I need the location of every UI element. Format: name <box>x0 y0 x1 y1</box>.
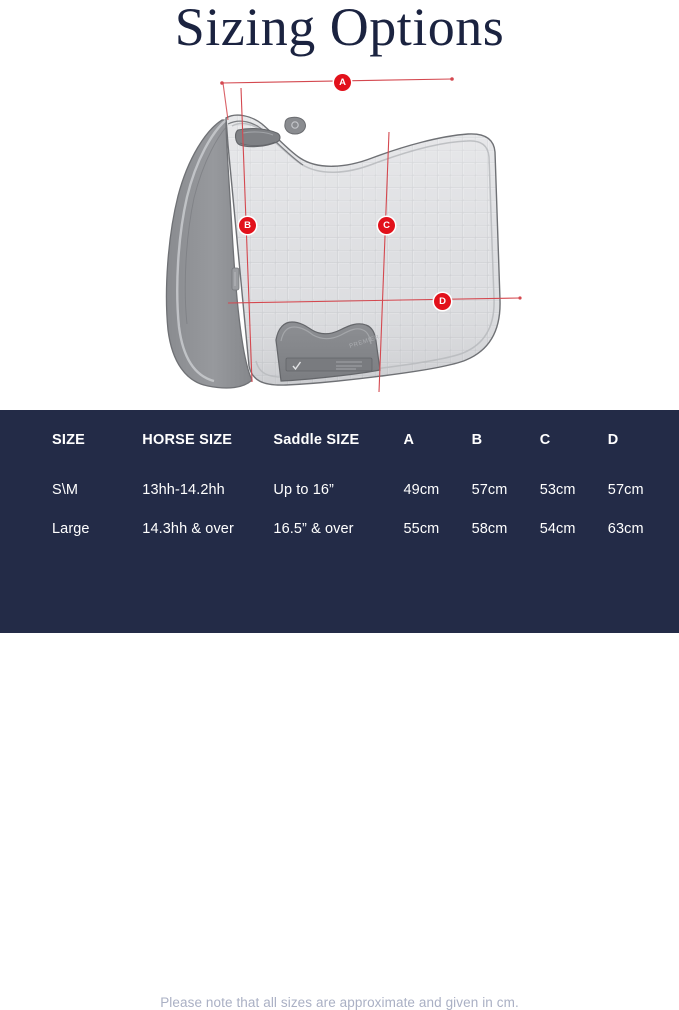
sizing-footnote: Please note that all sizes are approxima… <box>0 995 679 1010</box>
table-header-row: SIZE HORSE SIZE Saddle SIZE A B C D <box>0 410 679 470</box>
cell-saddle-size: 16.5” & over <box>273 509 403 548</box>
measure-marker-a: A <box>334 74 351 91</box>
cell-size: S\M <box>0 470 142 509</box>
sizing-table: SIZE HORSE SIZE Saddle SIZE A B C D S\M … <box>0 410 679 548</box>
column-header-horse-size: HORSE SIZE <box>142 410 273 470</box>
cell-horse-size: 14.3hh & over <box>142 509 273 548</box>
table-row: S\M 13hh-14.2hh Up to 16” 49cm 57cm 53cm… <box>0 470 679 509</box>
column-header-a: A <box>404 410 472 470</box>
column-header-b: B <box>472 410 540 470</box>
cell-saddle-size: Up to 16” <box>273 470 403 509</box>
column-header-size: SIZE <box>0 410 142 470</box>
diagram-section: Sizing Options <box>0 0 679 410</box>
saddle-pad-illustration: PREMIER <box>0 0 679 410</box>
cell-c: 54cm <box>540 509 608 548</box>
side-tab <box>232 268 239 290</box>
measure-marker-d: D <box>434 293 451 310</box>
d-ring-tab <box>285 117 306 134</box>
cell-d: 63cm <box>608 509 679 548</box>
column-header-saddle-size: Saddle SIZE <box>273 410 403 470</box>
cell-a: 49cm <box>404 470 472 509</box>
cell-d: 57cm <box>608 470 679 509</box>
table-row: Large 14.3hh & over 16.5” & over 55cm 58… <box>0 509 679 548</box>
measure-marker-b: B <box>239 217 256 234</box>
cell-horse-size: 13hh-14.2hh <box>142 470 273 509</box>
cell-c: 53cm <box>540 470 608 509</box>
saddle-pad-diagram: PREMIER A B C D <box>0 0 679 410</box>
column-header-d: D <box>608 410 679 470</box>
column-header-c: C <box>540 410 608 470</box>
cell-b: 57cm <box>472 470 540 509</box>
sizing-table-section: SIZE HORSE SIZE Saddle SIZE A B C D S\M … <box>0 410 679 633</box>
cell-b: 58cm <box>472 509 540 548</box>
measure-marker-c: C <box>378 217 395 234</box>
cell-a: 55cm <box>404 509 472 548</box>
cell-size: Large <box>0 509 142 548</box>
